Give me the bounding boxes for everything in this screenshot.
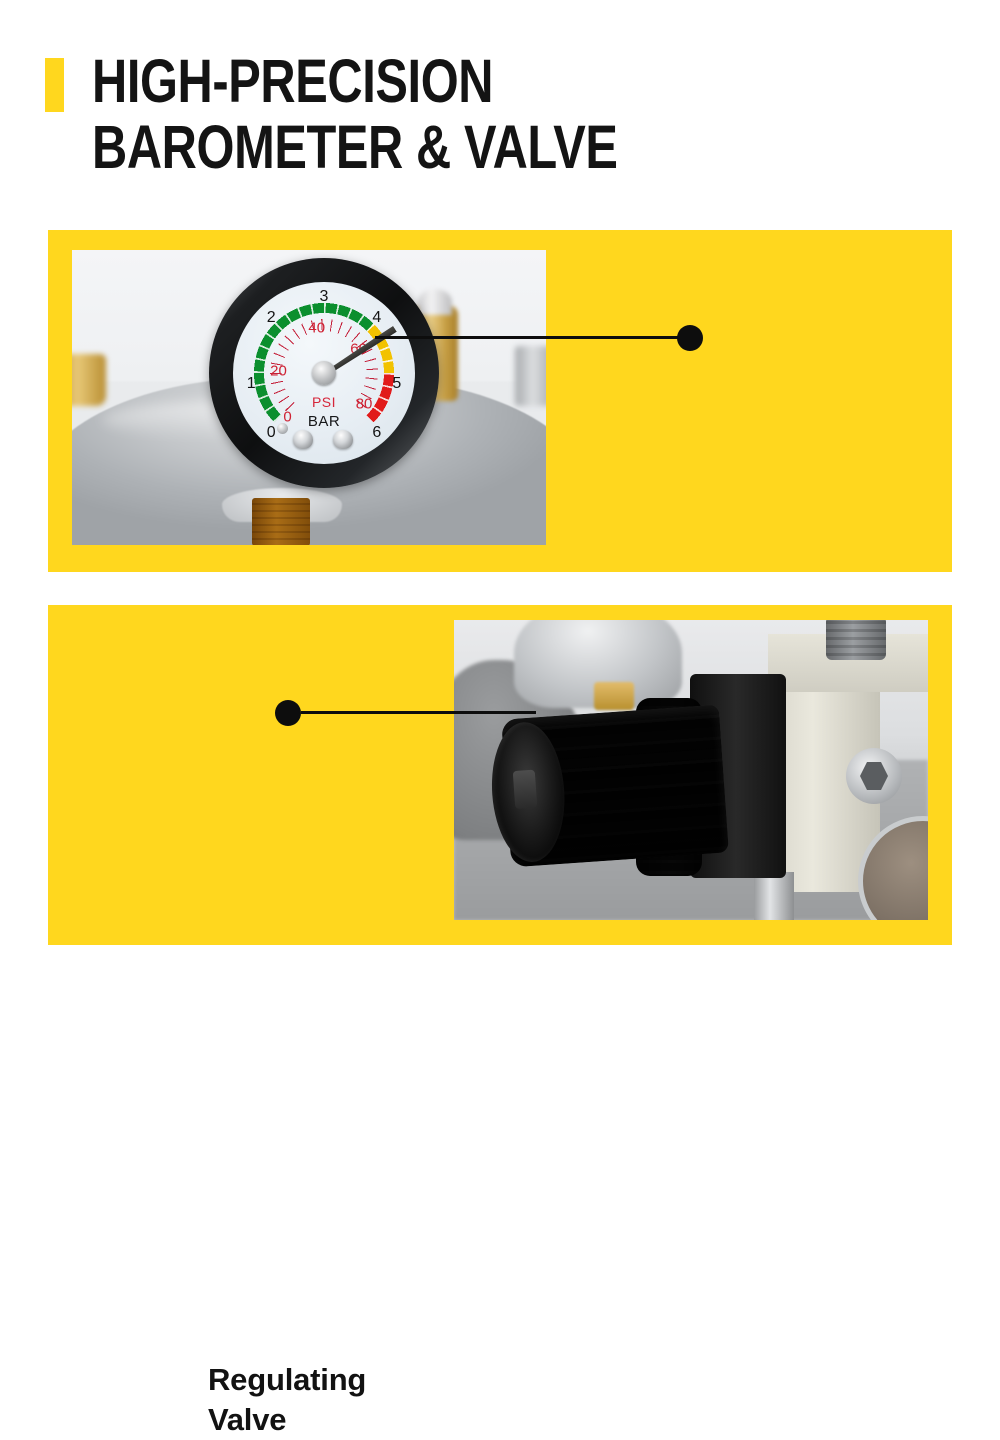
feature-panel-valve: Regulating Valve [48, 605, 952, 945]
title-accent-bar [45, 58, 64, 112]
bar-tick-label: 4 [372, 310, 381, 326]
bar-tick-label: 3 [320, 289, 329, 305]
metal-rail [754, 872, 794, 920]
callout-label-valve: Regulating Valve [208, 1360, 366, 1440]
brass-stem [252, 498, 310, 545]
page-header: HIGH-PRECISION BAROMETER & VALVE [0, 0, 1000, 200]
callout-line-valve [301, 711, 536, 714]
callout-dot-gauge [677, 325, 703, 351]
psi-tick-label: 0 [283, 409, 291, 424]
page-title: HIGH-PRECISION BAROMETER & VALVE [92, 48, 952, 180]
psi-tick-label: 20 [270, 364, 287, 379]
gauge-zero-stop-pin [277, 423, 288, 434]
brass-fitting-left [72, 354, 106, 406]
valve-photo [454, 620, 928, 920]
gauge-unit-bar: BAR [308, 413, 340, 430]
gauge-photo: 0 1 2 3 4 5 6 0 20 40 60 80 PSI BAR [72, 250, 546, 545]
gauge-unit-psi: PSI [312, 394, 336, 410]
gauge-face-screw [333, 430, 353, 449]
gauge-dial-face: 0 1 2 3 4 5 6 0 20 40 60 80 PSI BAR [233, 282, 415, 464]
pressure-gauge: 0 1 2 3 4 5 6 0 20 40 60 80 PSI BAR [209, 258, 439, 488]
bar-tick-label: 5 [392, 376, 401, 392]
page-title-line-1: HIGH-PRECISION [92, 48, 780, 114]
manifold-screw [826, 620, 886, 660]
callout-label-valve-line-2: Valve [208, 1400, 366, 1440]
psi-tick-label: 80 [356, 396, 373, 411]
gauge-needle-hub [312, 361, 336, 385]
callout-line-gauge [375, 336, 690, 339]
psi-tick-label: 40 [308, 320, 325, 335]
steel-fitting-right [515, 346, 546, 406]
bar-tick-label: 6 [372, 425, 381, 441]
callout-label-valve-line-1: Regulating [208, 1360, 366, 1400]
regulating-valve-knob [501, 705, 729, 868]
gauge-face-screw [293, 430, 313, 449]
callout-dot-valve [275, 700, 301, 726]
feature-panel-gauge: 0 1 2 3 4 5 6 0 20 40 60 80 PSI BAR [48, 230, 952, 572]
bar-tick-label: 2 [267, 310, 276, 326]
background-brass-fitting [594, 682, 634, 710]
bar-tick-label: 1 [247, 376, 256, 392]
bar-tick-label: 0 [267, 425, 276, 441]
page-title-line-2: BAROMETER & VALVE [92, 114, 780, 180]
manifold-hex-port [846, 748, 902, 804]
